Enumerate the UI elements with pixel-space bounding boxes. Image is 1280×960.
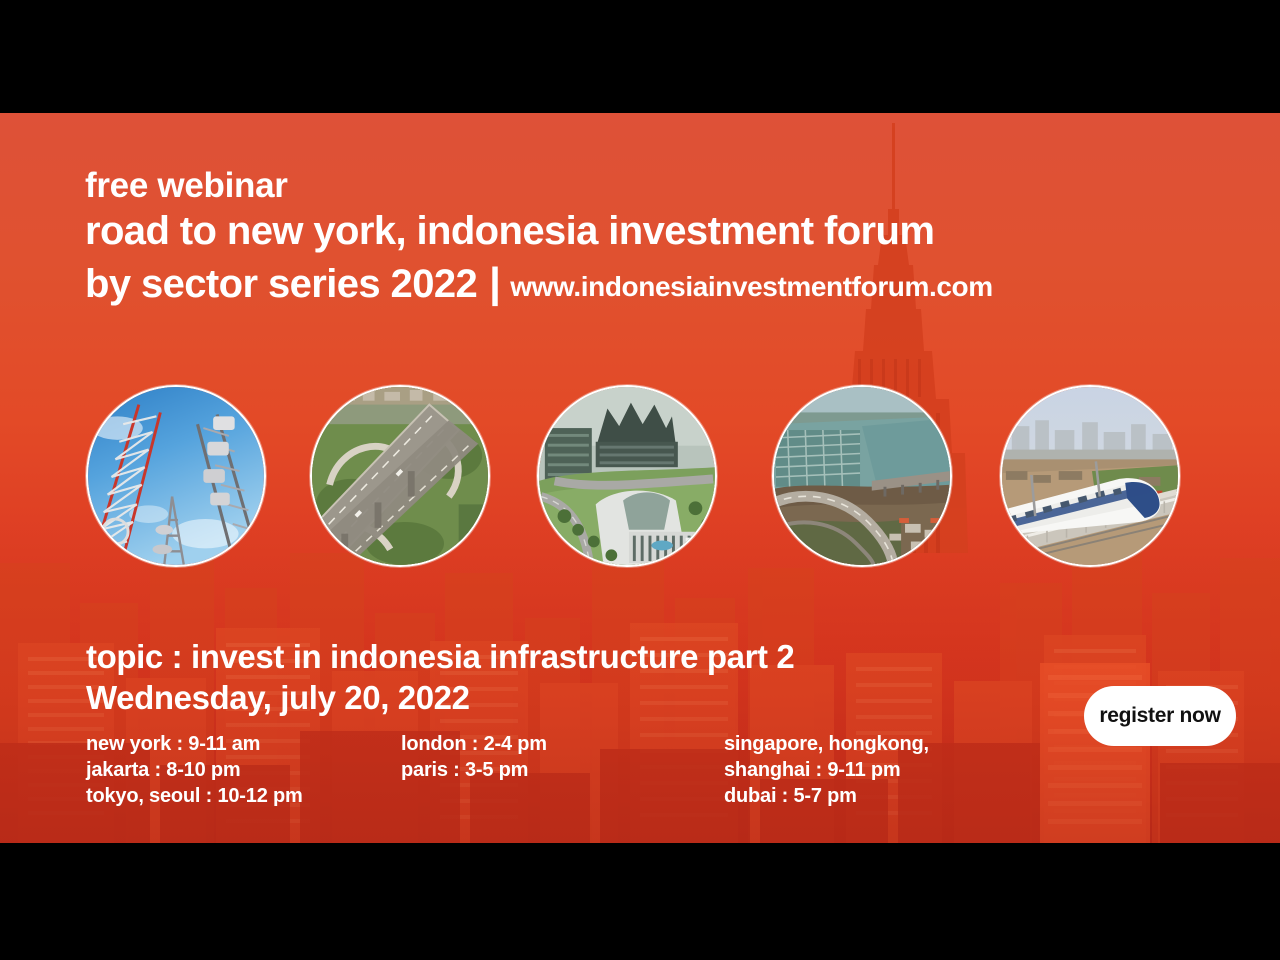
timezone-row: singapore, hongkong,	[724, 731, 929, 757]
headline-separator: |	[477, 257, 510, 309]
topic-title: topic : invest in indonesia infrastructu…	[86, 636, 794, 677]
letterbox-top	[0, 0, 1280, 113]
timezone-row: london : 2-4 pm	[401, 731, 547, 757]
eyebrow-text: free webinar	[85, 165, 993, 207]
timezone-column-1: new york : 9-11 am jakarta : 8-10 pm tok…	[86, 731, 303, 809]
gallery-item-telecommunication-towers	[86, 385, 266, 567]
timezone-column-2: london : 2-4 pm paris : 3-5 pm	[401, 731, 547, 783]
gallery-item-high-speed-train	[1000, 385, 1180, 567]
headline-block: free webinar road to new york, indonesia…	[85, 165, 993, 314]
register-now-label: register now	[1099, 704, 1220, 728]
register-now-button[interactable]: register now	[1084, 686, 1236, 746]
webinar-poster: free webinar road to new york, indonesia…	[0, 0, 1280, 960]
event-date: Wednesday, july 20, 2022	[86, 677, 794, 718]
letterbox-bottom	[0, 843, 1280, 960]
timezone-column-3: singapore, hongkong, shanghai : 9-11 pm …	[724, 731, 929, 809]
gallery-item-highway-interchange	[310, 385, 490, 567]
headline-line-2: by sector series 2022	[85, 258, 477, 310]
timezone-row: jakarta : 8-10 pm	[86, 757, 303, 783]
poster-stage: free webinar road to new york, indonesia…	[0, 113, 1280, 843]
timezone-row: tokyo, seoul : 10-12 pm	[86, 783, 303, 809]
website-url[interactable]: www.indonesiainvestmentforum.com	[510, 261, 992, 313]
poster-content: free webinar road to new york, indonesia…	[0, 113, 1280, 843]
image-gallery	[0, 385, 1280, 571]
timezone-row: shanghai : 9-11 pm	[724, 757, 929, 783]
timezone-row: paris : 3-5 pm	[401, 757, 547, 783]
topic-block: topic : invest in indonesia infrastructu…	[86, 636, 794, 718]
gallery-item-nusantara-capital-render	[537, 385, 717, 567]
timezone-row: new york : 9-11 am	[86, 731, 303, 757]
headline-line-2-row: by sector series 2022 | www.indonesiainv…	[85, 257, 993, 314]
gallery-item-coastal-toll-road	[772, 385, 952, 567]
headline-line-1: road to new york, indonesia investment f…	[85, 205, 993, 257]
timezone-row: dubai : 5-7 pm	[724, 783, 929, 809]
